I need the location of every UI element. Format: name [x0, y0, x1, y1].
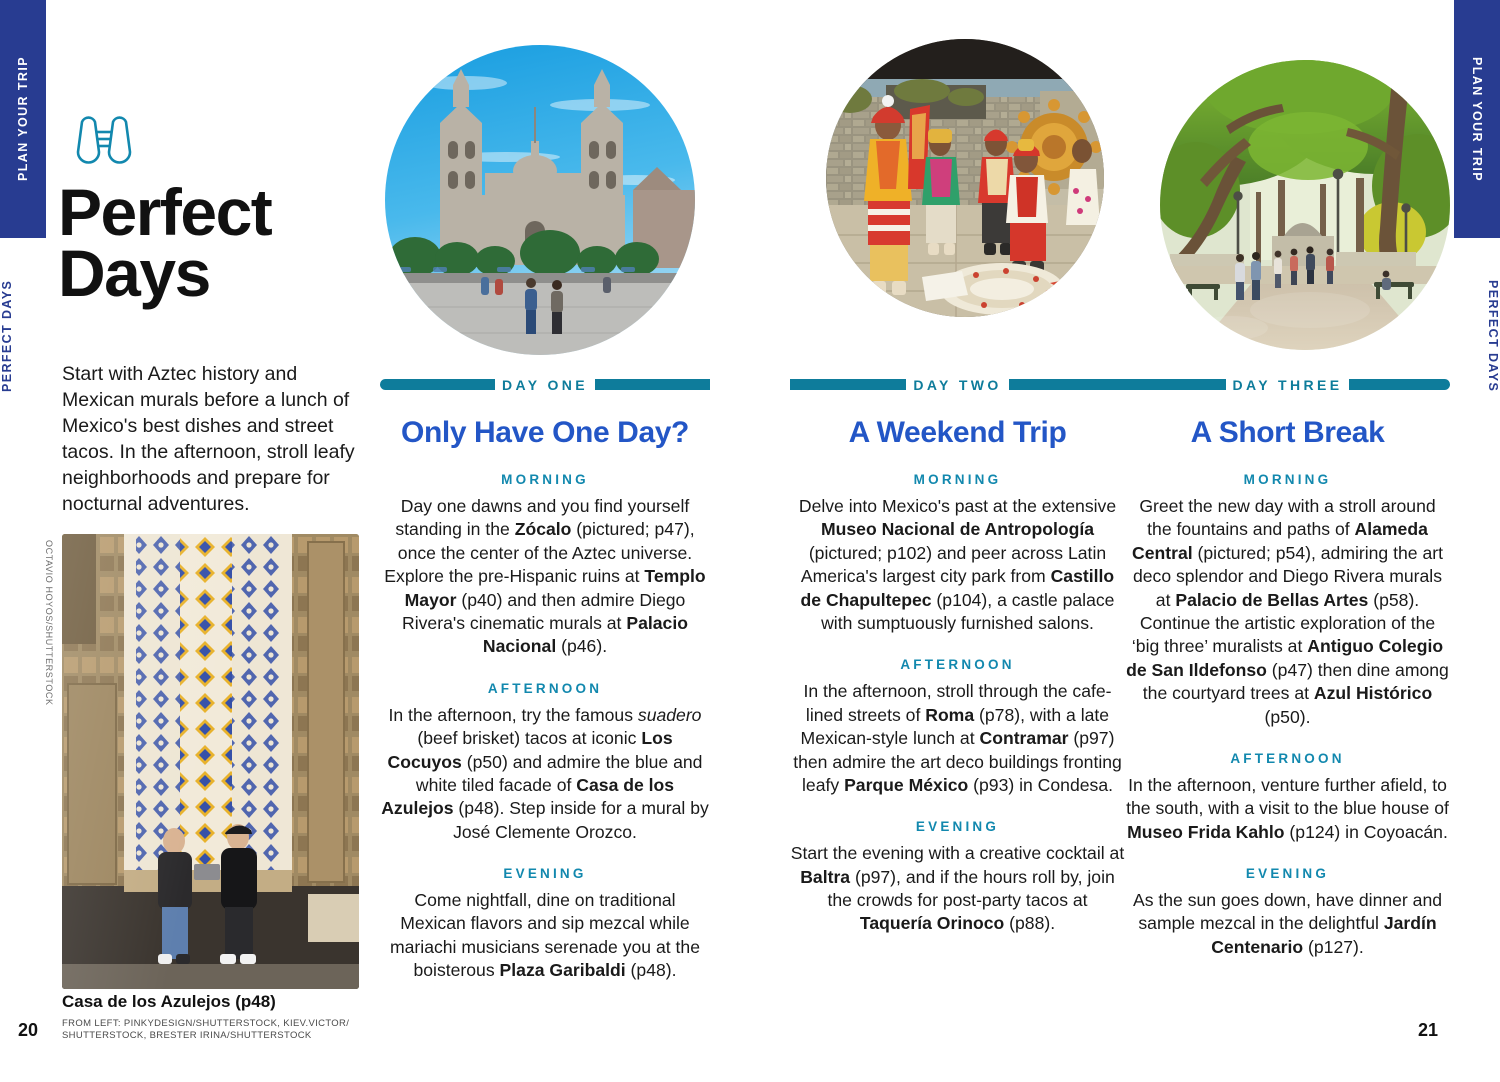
museo-antropologia-photo	[826, 39, 1104, 317]
intro-paragraph: Start with Aztec history and Mexican mur…	[62, 362, 362, 518]
slot-body-morning: Delve into Mexico's past at the extensiv…	[790, 495, 1125, 635]
day-bar-right	[1009, 379, 1125, 390]
slot-label-afternoon: AFTERNOON	[1125, 751, 1450, 766]
slot-body-evening: As the sun goes down, have dinner and sa…	[1125, 889, 1450, 959]
zocalo-cathedral-photo	[385, 45, 695, 355]
day-bar-left	[380, 379, 495, 390]
slot-body-morning: Greet the new day with a stroll around t…	[1125, 495, 1450, 729]
slot-label-morning: MORNING	[790, 472, 1125, 487]
day-column-three: DAY THREE A Short Break MORNING Greet th…	[1125, 378, 1450, 959]
sidebar-chapter-label-right: PERFECT DAYS	[1454, 238, 1500, 428]
day-bar-right	[1349, 379, 1450, 390]
page-number-left: 20	[18, 1020, 38, 1041]
sidebar-section-label-left: PLAN YOUR TRIP	[0, 0, 46, 238]
day-heading: Only Have One Day?	[380, 416, 710, 450]
day-column-two: DAY TWO A Weekend Trip MORNING Delve int…	[790, 378, 1125, 936]
slot-label-evening: EVENING	[790, 819, 1125, 834]
day-bar-left	[1125, 379, 1226, 390]
day-bar-label: DAY THREE	[1233, 377, 1343, 393]
slot-body-morning: Day one dawns and you find yourself stan…	[380, 495, 710, 659]
slot-label-evening: EVENING	[1125, 866, 1450, 881]
slot-body-evening: Start the evening with a creative cockta…	[790, 842, 1125, 936]
day-bar-right	[595, 379, 710, 390]
day-bar-left	[790, 379, 906, 390]
slot-body-evening: Come nightfall, dine on traditional Mexi…	[380, 889, 710, 983]
slot-label-evening: EVENING	[380, 866, 710, 881]
day-column-one: DAY ONE Only Have One Day? MORNING Day o…	[380, 378, 710, 983]
day-bar-row: DAY TWO	[790, 378, 1125, 391]
alameda-central-photo	[1160, 60, 1450, 350]
sidebar-section-label-right: PLAN YOUR TRIP	[1454, 0, 1500, 238]
photo-credit-vertical: OCTAVIO HOYOS/SHUTTERSTOCK	[44, 540, 54, 706]
day-heading: A Short Break	[1125, 416, 1450, 450]
day-bar-row: DAY THREE	[1125, 378, 1450, 391]
sidebar-chapter-label-left: PERFECT DAYS	[0, 238, 46, 428]
page-title-line1: Perfect	[58, 182, 388, 243]
slot-body-afternoon: In the afternoon, venture further afield…	[1125, 774, 1450, 844]
photo-credits: FROM LEFT: PINKYDESIGN/SHUTTERSTOCK, KIE…	[62, 1018, 362, 1042]
page-number-right: 21	[1418, 1020, 1438, 1041]
day-bar-row: DAY ONE	[380, 378, 710, 391]
casa-de-los-azulejos-photo	[62, 534, 359, 989]
slot-label-morning: MORNING	[1125, 472, 1450, 487]
slot-body-afternoon: In the afternoon, try the famous suadero…	[380, 704, 710, 844]
slot-body-afternoon: In the afternoon, stroll through the caf…	[790, 680, 1125, 797]
slot-label-afternoon: AFTERNOON	[380, 681, 710, 696]
day-bar-label: DAY ONE	[502, 377, 588, 393]
binoculars-icon	[62, 112, 146, 172]
photo-caption: Casa de los Azulejos (p48)	[62, 992, 382, 1012]
day-bar-label: DAY TWO	[913, 377, 1001, 393]
page-title-line2: Days	[58, 243, 388, 304]
slot-label-morning: MORNING	[380, 472, 710, 487]
slot-label-afternoon: AFTERNOON	[790, 657, 1125, 672]
day-heading: A Weekend Trip	[790, 416, 1125, 450]
page-title: Perfect Days	[58, 182, 388, 305]
left-page: Perfect Days Start with Aztec history an…	[62, 0, 372, 1082]
